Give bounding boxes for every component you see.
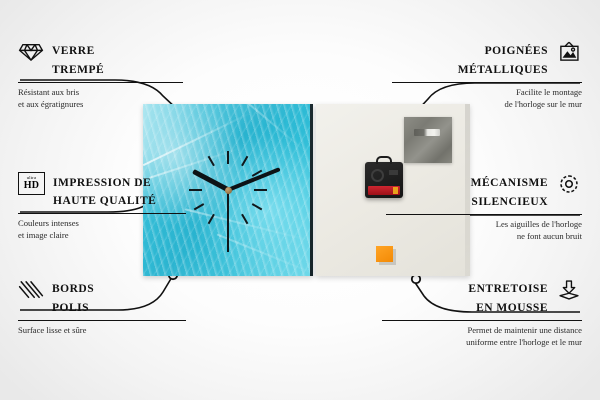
clock-second-hand: [227, 190, 229, 252]
gear-icon: [556, 172, 582, 196]
callout-title-line2: POLIS: [18, 302, 186, 316]
callout-title-line2: MÉTALLIQUES: [392, 64, 582, 78]
callout-title-line2: HAUTE QUALITÉ: [18, 195, 186, 209]
callout-desc-line1: Facilite le montage: [392, 87, 582, 99]
glass-edge: [310, 104, 313, 276]
callout-rule: [18, 320, 186, 322]
callout-title-line2: SILENCIEUX: [386, 196, 582, 210]
callout-impression-haute-qualite: ultra HD IMPRESSION DE HAUTE QUALITÉ Cou…: [18, 172, 186, 241]
callout-title: VERRE: [52, 45, 95, 59]
callout-desc-line1: Les aiguilles de l'horloge: [386, 219, 582, 231]
callout-rule: [18, 82, 183, 84]
callout-title: IMPRESSION DE: [53, 177, 151, 191]
callout-title-line2: TREMPÉ: [18, 64, 183, 78]
infographic-canvas: VERRE TREMPÉ Résistant aux bris et aux é…: [0, 0, 600, 400]
clock-hour-hand: [192, 169, 230, 192]
ultra-hd-large: HD: [24, 181, 40, 191]
picture-frame-icon: [556, 40, 582, 64]
callout-desc-line2: de l'horloge sur le mur: [392, 99, 582, 111]
callout-desc-line2: et image claire: [18, 230, 186, 242]
callout-rule: [382, 320, 582, 322]
callout-rule: [386, 214, 582, 216]
diamond-icon: [18, 40, 44, 64]
callout-rule: [392, 82, 582, 84]
ultra-hd-icon: ultra HD: [18, 172, 45, 195]
polished-edges-icon: [18, 278, 44, 302]
foam-spacer-part: [376, 246, 393, 262]
callout-desc-line2: ne font aucun bruit: [386, 231, 582, 243]
callout-mecanisme-silencieux: MÉCANISME SILENCIEUX Les aiguilles de l'…: [386, 172, 582, 242]
callout-desc-line1: Couleurs intenses: [18, 218, 186, 230]
arrow-down-pad-icon: [556, 278, 582, 302]
callout-title: ENTRETOISE: [468, 283, 548, 297]
callout-title: POIGNÉES: [485, 45, 548, 59]
callout-desc-line1: Résistant aux bris: [18, 87, 183, 99]
callout-desc-line2: et aux égratignures: [18, 99, 183, 111]
callout-entretoise-en-mousse: ENTRETOISE EN MOUSSE Permet de maintenir…: [382, 278, 582, 348]
callout-desc-line2: uniforme entre l'horloge et le mur: [382, 337, 582, 349]
callout-verre-trempe: VERRE TREMPÉ Résistant aux bris et aux é…: [18, 40, 183, 110]
callout-rule: [18, 213, 186, 215]
clock-center-cap: [225, 187, 232, 194]
metal-hanger-part: [404, 117, 452, 163]
callout-desc-line1: Surface lisse et sûre: [18, 325, 186, 337]
callout-bords-polis: BORDS POLIS Surface lisse et sûre: [18, 278, 186, 337]
callout-title-line2: EN MOUSSE: [382, 302, 582, 316]
callout-title: BORDS: [52, 283, 94, 297]
callout-poignees-metalliques: POIGNÉES MÉTALLIQUES Facilite le montage…: [392, 40, 582, 110]
callout-title: MÉCANISME: [471, 177, 548, 191]
callout-desc-line1: Permet de maintenir une distance: [382, 325, 582, 337]
